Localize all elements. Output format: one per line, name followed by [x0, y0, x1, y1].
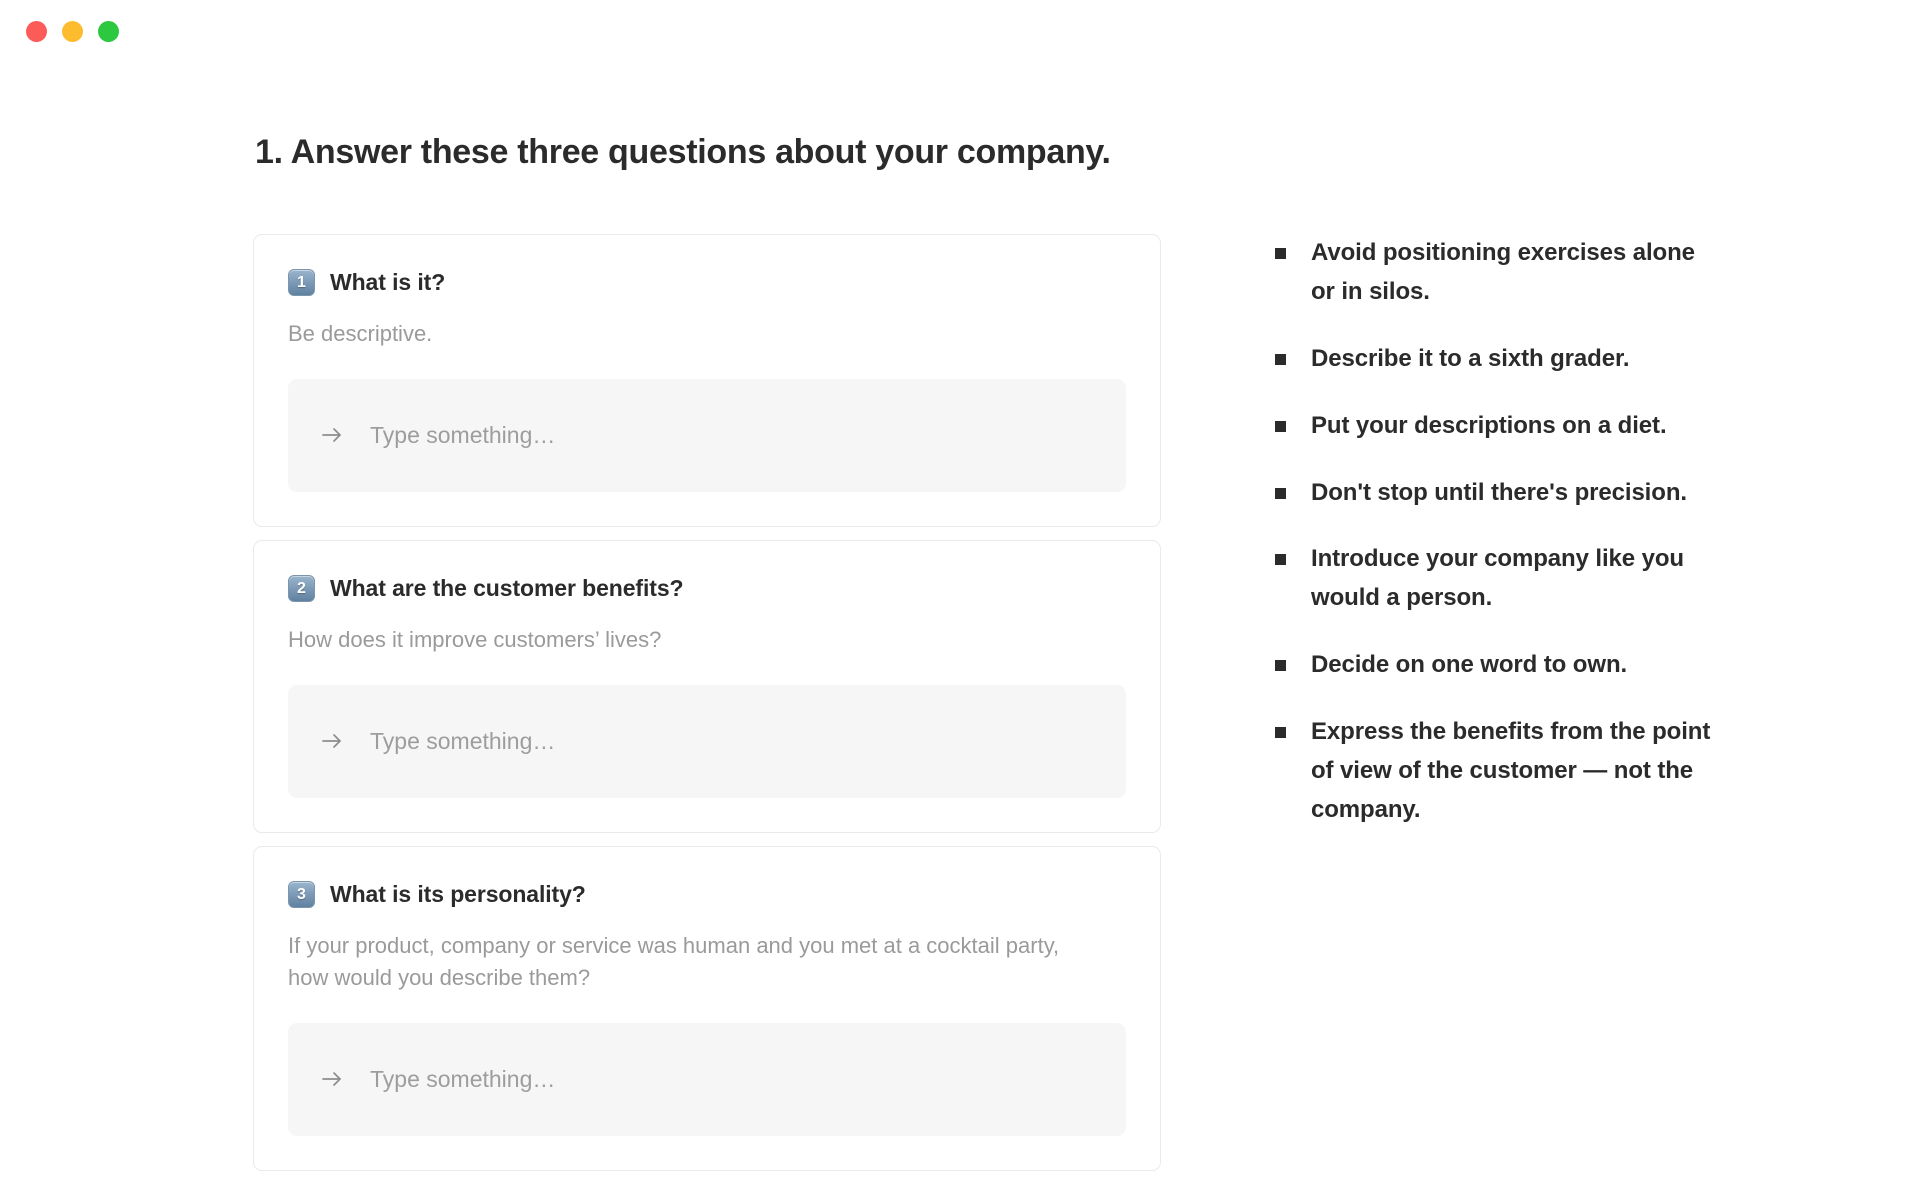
bullet-square-icon	[1275, 727, 1286, 738]
question-header: 3 What is its personality?	[288, 881, 1126, 908]
tip-item: Introduce your company like you would a …	[1275, 540, 1725, 618]
question-answer-input[interactable]: Type something…	[288, 685, 1126, 798]
bullet-square-icon	[1275, 421, 1286, 432]
question-card: 2 What are the customer benefits? How do…	[253, 540, 1161, 833]
bullet-square-icon	[1275, 354, 1286, 365]
questions-list: 1 What is it? Be descriptive. Type somet…	[253, 234, 1161, 1184]
tip-item: Put your descriptions on a diet.	[1275, 407, 1725, 446]
tip-text: Introduce your company like you would a …	[1311, 540, 1725, 618]
arrow-right-icon	[320, 1067, 344, 1091]
arrow-right-icon	[320, 729, 344, 753]
tip-text: Don't stop until there's precision.	[1311, 474, 1687, 513]
question-card: 1 What is it? Be descriptive. Type somet…	[253, 234, 1161, 527]
question-title: What are the customer benefits?	[330, 575, 683, 602]
question-header: 1 What is it?	[288, 269, 1126, 296]
answer-placeholder: Type something…	[370, 422, 555, 449]
main-content: 1. Answer these three questions about yo…	[0, 62, 1920, 1200]
tips-list: Avoid positioning exercises alone or in …	[1275, 234, 1725, 858]
zoom-window-button[interactable]	[98, 21, 119, 42]
question-card: 3 What is its personality? If your produ…	[253, 846, 1161, 1171]
question-number-badge: 2	[288, 575, 315, 602]
tip-item: Express the benefits from the point of v…	[1275, 713, 1725, 830]
tip-item: Describe it to a sixth grader.	[1275, 340, 1725, 379]
close-window-button[interactable]	[26, 21, 47, 42]
tip-text: Avoid positioning exercises alone or in …	[1311, 234, 1725, 312]
question-answer-input[interactable]: Type something…	[288, 379, 1126, 492]
tip-text: Decide on one word to own.	[1311, 646, 1627, 685]
tip-item: Avoid positioning exercises alone or in …	[1275, 234, 1725, 312]
traffic-light-group	[26, 21, 119, 42]
question-subtitle: Be descriptive.	[288, 318, 1088, 350]
window-titlebar	[0, 0, 1920, 62]
app-window: 1. Answer these three questions about yo…	[0, 0, 1920, 1200]
arrow-right-icon	[320, 423, 344, 447]
bullet-square-icon	[1275, 248, 1286, 259]
question-title: What is its personality?	[330, 881, 586, 908]
question-subtitle: How does it improve customers’ lives?	[288, 624, 1088, 656]
tip-text: Put your descriptions on a diet.	[1311, 407, 1667, 446]
bullet-square-icon	[1275, 488, 1286, 499]
bullet-square-icon	[1275, 660, 1286, 671]
question-number-badge: 1	[288, 269, 315, 296]
question-header: 2 What are the customer benefits?	[288, 575, 1126, 602]
page-title: 1. Answer these three questions about yo…	[255, 133, 1111, 172]
tip-item: Decide on one word to own.	[1275, 646, 1725, 685]
question-title: What is it?	[330, 269, 445, 296]
answer-placeholder: Type something…	[370, 1066, 555, 1093]
tip-item: Don't stop until there's precision.	[1275, 474, 1725, 513]
answer-placeholder: Type something…	[370, 728, 555, 755]
tip-text: Describe it to a sixth grader.	[1311, 340, 1629, 379]
minimize-window-button[interactable]	[62, 21, 83, 42]
question-number-badge: 3	[288, 881, 315, 908]
question-subtitle: If your product, company or service was …	[288, 930, 1088, 994]
tip-text: Express the benefits from the point of v…	[1311, 713, 1725, 830]
question-answer-input[interactable]: Type something…	[288, 1023, 1126, 1136]
bullet-square-icon	[1275, 554, 1286, 565]
